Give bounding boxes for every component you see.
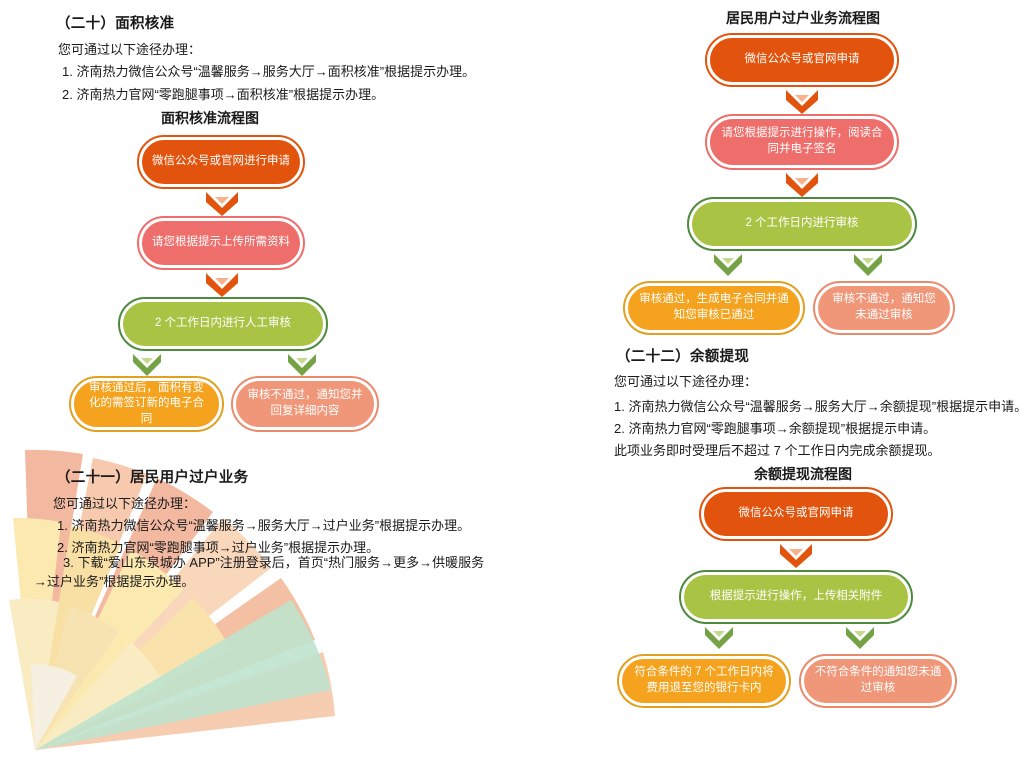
left-column: （二十）面积核准 您可通过以下途径办理： 1. 济南热力微信公众号“温馨服务→服… [0,0,513,718]
flow-box-refund-upload: 根据提示进行操作，上传相关附件 [681,572,911,622]
page-root: （二十）面积核准 您可通过以下途径办理： 1. 济南热力微信公众号“温馨服务→服… [0,0,1026,718]
section-21-item-1: 1. 济南热力微信公众号“温馨服务→服务大厅→过户业务”根据提示办理。 [57,516,470,536]
flow-title-area-approval: 面积核准流程图 [0,108,420,128]
section-21-heading: （二十一）居民用户过户业务 [56,466,248,487]
chevron-down-icon [784,171,820,197]
flow-box-refund-rejected-label: 不符合条件的通知您未通过审核 [814,665,942,696]
chevron-down-icon [778,542,814,568]
flow-box-refund-rejected: 不符合条件的通知您未通过审核 [801,656,955,706]
chevron-down-icon [784,88,820,114]
flow-box-refund-upload-label: 根据提示进行操作，上传相关附件 [694,589,898,605]
section-20-intro: 您可通过以下途径办理： [58,40,201,60]
flow-box-approved: 审核通过后，面积有变化的需签订新的电子合同 [71,378,222,430]
flow-box-transfer-sign: 请您根据提示进行操作，阅读合同并电子签名 [707,116,897,168]
flow-title-transfer: 居民用户过户业务流程图 [613,8,993,28]
flow-box-upload: 请您根据提示上传所需资料 [139,218,303,268]
flow-box-refund-approved: 符合条件的 7 个工作日内将费用退至您的银行卡内 [619,656,789,706]
chevron-down-icon [286,352,318,376]
right-column: 居民用户过户业务流程图 微信公众号或官网申请 请您根据提示进行操作，阅读合同并电… [513,0,1026,718]
section-20-heading: （二十）面积核准 [56,12,174,33]
flow-box-refund-apply-label: 微信公众号或官网申请 [714,506,878,522]
flow-box-refund-apply: 微信公众号或官网申请 [701,489,891,539]
chevron-down-icon [131,352,163,376]
flow-box-transfer-apply-label: 微信公众号或官网申请 [720,52,884,68]
section-22-item-2: 2. 济南热力官网“零跑腿事项→余额提现”根据提示申请。 [614,419,936,439]
section-22-item-1: 1. 济南热力微信公众号“温馨服务→服务大厅→余额提现”根据提示申请。 [614,397,1026,417]
flow-box-apply: 微信公众号或官网进行申请 [139,137,303,187]
flow-box-transfer-approved-label: 审核通过，生成电子合同并通知您审核已通过 [638,292,790,323]
section-22-intro: 您可通过以下途径办理： [614,372,757,392]
flow-box-apply-label: 微信公众号或官网进行申请 [152,154,290,170]
chevron-down-icon [712,252,744,276]
section-21-item-3: 3. 下载“爱山东泉城办 APP”注册登录后，首页“热门服务→更多→供暖服务 [63,553,484,573]
section-20-item-2: 2. 济南热力官网“零跑腿事项→面积核准”根据提示办理。 [62,85,384,105]
chevron-down-icon [204,271,240,297]
flow-box-transfer-sign-label: 请您根据提示进行操作，阅读合同并电子签名 [720,126,884,157]
flow-box-rejected-label: 审核不通过，通知您并回复详细内容 [246,388,364,419]
flow-box-transfer-rejected-label: 审核不通过，通知您未通过审核 [828,292,940,323]
flow-title-refund: 余额提现流程图 [613,464,993,484]
flow-box-rejected: 审核不通过，通知您并回复详细内容 [233,378,377,430]
chevron-down-icon [844,625,876,649]
chevron-down-icon [703,625,735,649]
section-20-item-1: 1. 济南热力微信公众号“温馨服务→服务大厅→面积核准”根据提示办理。 [62,62,475,82]
flow-box-review: 2 个工作日内进行人工审核 [120,299,326,349]
flow-box-upload-label: 请您根据提示上传所需资料 [152,235,290,251]
chevron-down-icon [204,190,240,216]
flow-box-transfer-approved: 审核通过，生成电子合同并通知您审核已通过 [625,283,803,333]
flow-box-review-label: 2 个工作日内进行人工审核 [133,316,313,332]
flow-box-transfer-review: 2 个工作日内进行审核 [689,199,915,249]
flow-box-approved-label: 审核通过后，面积有变化的需签订新的电子合同 [84,381,209,428]
flow-box-transfer-review-label: 2 个工作日内进行审核 [702,216,902,232]
flow-box-refund-approved-label: 符合条件的 7 个工作日内将费用退至您的银行卡内 [632,665,776,696]
section-22-note: 此项业务即时受理后不超过 7 个工作日内完成余额提现。 [614,441,940,461]
chevron-down-icon [852,252,884,276]
section-21-item-3-cont: →过户业务”根据提示办理。 [34,572,194,592]
section-21-intro: 您可通过以下途径办理： [53,494,196,514]
flow-box-transfer-apply: 微信公众号或官网申请 [707,35,897,85]
section-22-heading: （二十二）余额提现 [616,345,749,366]
flow-box-transfer-rejected: 审核不通过，通知您未通过审核 [815,283,953,333]
